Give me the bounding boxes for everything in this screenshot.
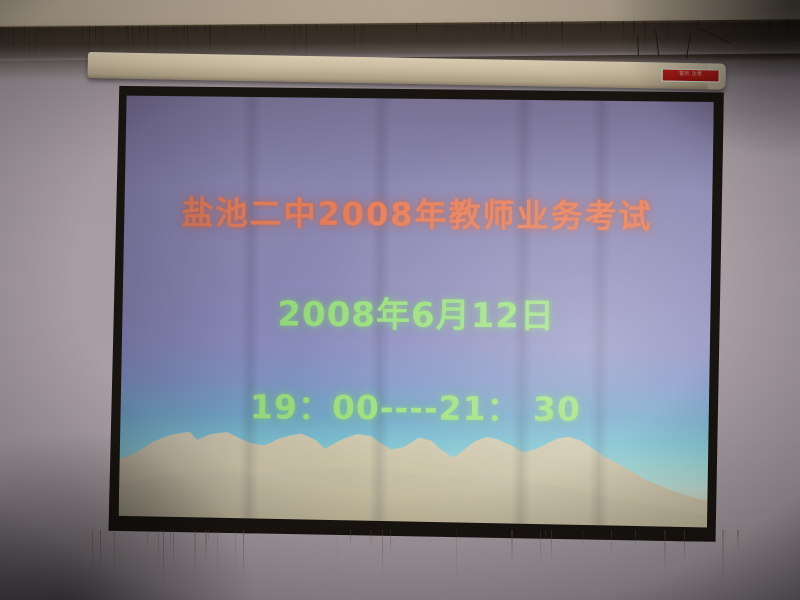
wall-drip: [260, 24, 262, 34]
wall-drip: [456, 530, 457, 588]
wall-drip: [737, 530, 739, 551]
photo-canvas: 警告 注意: [0, 0, 800, 600]
wall-drip: [512, 22, 513, 33]
wall-drip: [13, 27, 14, 51]
wall-drip: [98, 26, 99, 43]
wall-drip: [362, 24, 363, 51]
slide-text-block: 盐池二中2008年教师业务考试 2008年6月12日 19：00----21： …: [119, 91, 714, 532]
slide-title: 盐池二中2008年教师业务考试: [121, 187, 713, 238]
wall-drip: [170, 530, 171, 560]
wall-drip: [243, 530, 244, 581]
wall-drip: [151, 26, 152, 37]
wall-drip: [370, 530, 372, 548]
screen-projection-surface: 盐池二中2008年教师业务考试 2008年6月12日 19：00----21： …: [119, 91, 714, 532]
wall-drip: [235, 530, 236, 583]
wall-drip: [176, 25, 177, 54]
screen-top-shading: [119, 91, 714, 532]
wall-drip: [184, 25, 185, 39]
wall-drip: [316, 24, 317, 33]
screen-left-shading: [119, 91, 714, 532]
wall-drip: [147, 530, 148, 552]
wall-drip: [611, 530, 612, 550]
wall-drip: [605, 21, 606, 36]
slide-mountain-graphic: [119, 397, 712, 532]
wall-drip: [726, 20, 727, 41]
wall-drip: [101, 26, 102, 48]
wall-drip: [683, 20, 684, 39]
wall-drip: [771, 20, 772, 36]
wall-drip: [294, 24, 295, 56]
wall-drip: [34, 27, 36, 61]
wall-drip: [156, 25, 157, 56]
wall-drip: [127, 26, 129, 53]
wall-drip: [350, 530, 351, 545]
wall-drip: [299, 24, 300, 47]
wall-drip: [147, 26, 149, 53]
wall-drip: [132, 26, 133, 52]
projection-screen[interactable]: 盐池二中2008年教师业务考试 2008年6月12日 19：00----21： …: [92, 82, 724, 545]
wall-drip: [722, 530, 724, 580]
wall-drip: [484, 22, 485, 48]
wall-drip: [21, 27, 22, 41]
wall-drip: [697, 20, 699, 44]
screen-crease-3: [510, 91, 534, 532]
wall-drip: [364, 23, 365, 38]
wall-drip: [139, 26, 141, 44]
wall-drip: [100, 530, 101, 572]
screen-crease-1: [238, 91, 262, 532]
wall-drip: [788, 19, 789, 47]
wall-drip: [361, 24, 362, 57]
wall-drip: [103, 26, 104, 54]
slide-time-line: 19：00----21： 30: [119, 379, 711, 432]
wall-drip: [511, 530, 513, 561]
wall-drip: [562, 22, 563, 50]
wall-drip: [264, 24, 265, 44]
wall-drip: [354, 24, 355, 51]
wall-drip: [242, 25, 243, 48]
wall-drip: [545, 530, 546, 543]
projector-hotspot: [119, 91, 714, 532]
wall-drip: [734, 20, 735, 38]
wall-drip: [173, 530, 174, 569]
screen-crease-2: [368, 91, 392, 532]
wall-drip: [29, 27, 30, 61]
wall-drip: [24, 27, 25, 50]
wall-drip: [209, 25, 211, 54]
wall-drip: [623, 21, 624, 44]
wall-drip: [390, 530, 391, 556]
wall-drip: [173, 25, 174, 35]
wall-drip: [521, 22, 523, 39]
wall-drip: [126, 26, 127, 34]
wall-drip: [684, 530, 685, 563]
wall-drip: [59, 26, 60, 44]
wall-drip: [187, 25, 188, 53]
wall-drip: [645, 21, 646, 50]
wall-drip: [546, 22, 547, 43]
wall-drip: [600, 21, 602, 37]
wall-drip: [154, 26, 155, 55]
wall-drip: [158, 530, 159, 568]
wall-drip: [634, 21, 635, 33]
wall-drip: [525, 22, 526, 40]
wall-drip: [204, 25, 206, 39]
wall-drip: [306, 24, 307, 55]
wall-drip: [95, 26, 96, 43]
wall-drip: [205, 530, 207, 562]
wall-drip: [458, 23, 459, 42]
roller-label-text: 警告 注意: [663, 70, 719, 78]
wall-drip: [582, 530, 584, 547]
wall-drip: [633, 21, 634, 41]
wall-drip: [25, 27, 26, 36]
wall-drip: [195, 25, 196, 37]
roller-warning-label: 警告 注意: [662, 69, 720, 83]
wall-drip: [503, 22, 505, 33]
wall-drip: [208, 530, 209, 543]
wall-drip: [662, 21, 663, 33]
wall-drip: [182, 25, 183, 40]
wall-drip: [725, 530, 726, 558]
wall-drip: [300, 24, 301, 47]
wall-drip: [540, 530, 541, 567]
wall-drip: [495, 22, 496, 38]
slide-date-line: 2008年6月12日: [120, 285, 712, 339]
wall-drip: [82, 26, 83, 46]
wall-drip: [114, 530, 115, 591]
wall-drip: [1, 27, 2, 46]
wall-drip: [447, 23, 448, 32]
wall-drip: [490, 22, 492, 34]
wall-drip: [416, 23, 417, 36]
wall-drip: [686, 20, 687, 44]
wall-drip: [163, 530, 164, 588]
wall-drip: [747, 20, 748, 51]
wall-drip: [69, 26, 70, 39]
wall-drip: [553, 22, 554, 31]
wall-drip: [225, 25, 226, 53]
screen-crease-4: [588, 91, 612, 532]
wall-drip: [194, 530, 196, 579]
wall-drip: [721, 20, 722, 39]
wall-drip-streaks-bottom: [90, 530, 750, 600]
wall-drip: [551, 530, 552, 563]
wall-drip: [3, 27, 4, 55]
wall-drip: [48, 27, 49, 38]
wall-drip: [768, 20, 770, 48]
wall-drip: [644, 21, 645, 50]
wall-drip: [667, 21, 668, 46]
wall-drip: [635, 530, 636, 549]
wall-drip: [214, 530, 215, 549]
wall-drip: [92, 530, 93, 580]
wall-drip: [664, 530, 666, 572]
wall-drip: [217, 530, 218, 582]
wall-drip: [38, 27, 39, 37]
wall-drip: [143, 26, 144, 35]
wall-drip: [337, 530, 338, 572]
wall-drip: [340, 24, 342, 35]
wall-drip: [445, 23, 446, 55]
wall-drip: [382, 530, 383, 578]
